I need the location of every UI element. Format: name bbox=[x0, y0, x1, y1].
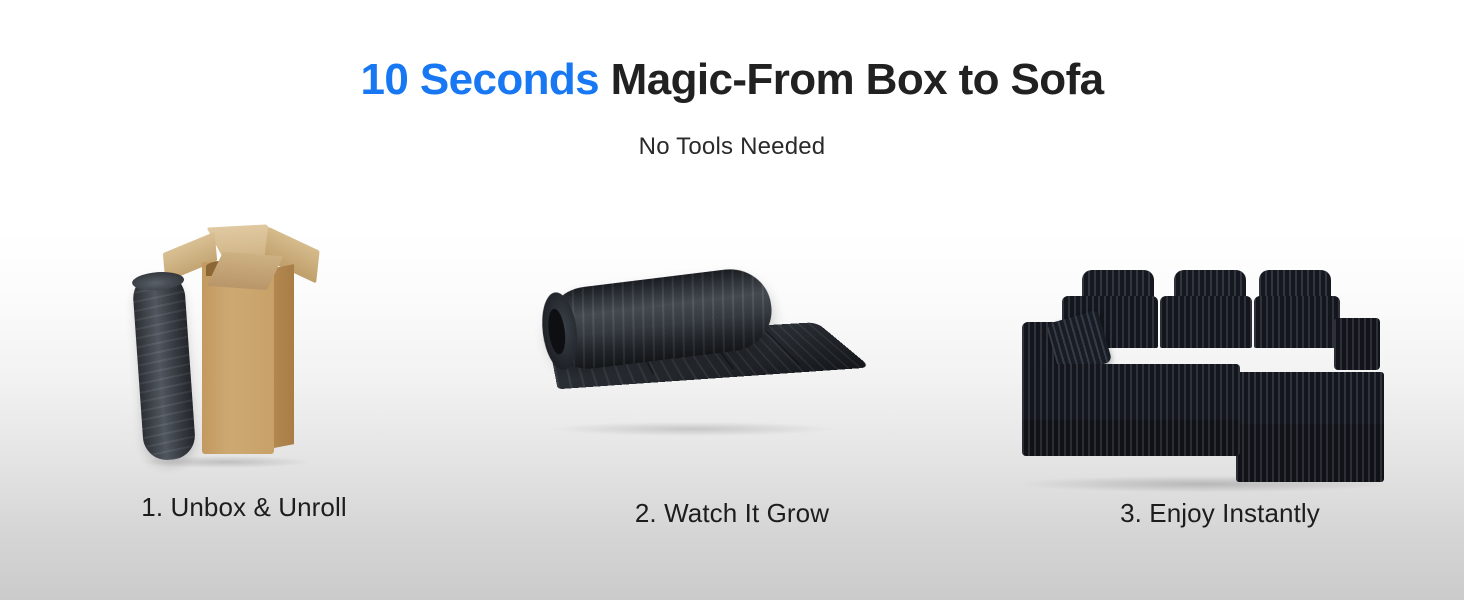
title-rest-text: Magic-From Box to Sofa bbox=[599, 55, 1103, 104]
sofa-chaise-base bbox=[1236, 424, 1384, 482]
box-side-face bbox=[274, 264, 294, 448]
title-accent-text: 10 Seconds bbox=[360, 55, 599, 104]
step-3-caption: 3. Enjoy Instantly bbox=[976, 498, 1464, 529]
step-panel-3: 3. Enjoy Instantly bbox=[976, 200, 1464, 560]
page-subtitle: No Tools Needed bbox=[0, 133, 1464, 161]
step-2-caption: 2. Watch It Grow bbox=[488, 498, 976, 529]
page-title: 10 Seconds Magic-From Box to Sofa bbox=[0, 55, 1464, 105]
sectional-sofa-graphic bbox=[1004, 260, 1404, 470]
step-1-caption: 1. Unbox & Unroll bbox=[0, 492, 488, 523]
rolled-sofa-cylinder bbox=[132, 270, 197, 461]
sofa-main-base bbox=[1022, 420, 1240, 456]
sofa-chaise-backrest bbox=[1334, 318, 1380, 370]
promo-banner: 10 Seconds Magic-From Box to Sofa No Too… bbox=[0, 0, 1464, 600]
box-and-roll-graphic bbox=[120, 220, 320, 460]
step-3-illustration bbox=[976, 200, 1464, 490]
roll-wrap-texture bbox=[132, 270, 197, 461]
ground-shadow bbox=[552, 422, 832, 436]
sofa-main-seat bbox=[1022, 364, 1240, 426]
steps-row: 1. Unbox & Unroll bbox=[0, 200, 1464, 560]
sofa-back-cushion bbox=[1254, 296, 1340, 348]
step-panel-2: 2. Watch It Grow bbox=[488, 200, 976, 560]
step-2-illustration bbox=[488, 200, 976, 490]
sofa-chaise-seat bbox=[1236, 372, 1384, 430]
step-panel-1: 1. Unbox & Unroll bbox=[0, 200, 488, 560]
box-front-face bbox=[202, 262, 274, 454]
unrolling-sofa-graphic bbox=[526, 272, 856, 442]
sofa-back-cushion bbox=[1160, 296, 1252, 348]
step-1-illustration bbox=[0, 200, 488, 490]
cylinder-core-hole bbox=[546, 308, 567, 356]
